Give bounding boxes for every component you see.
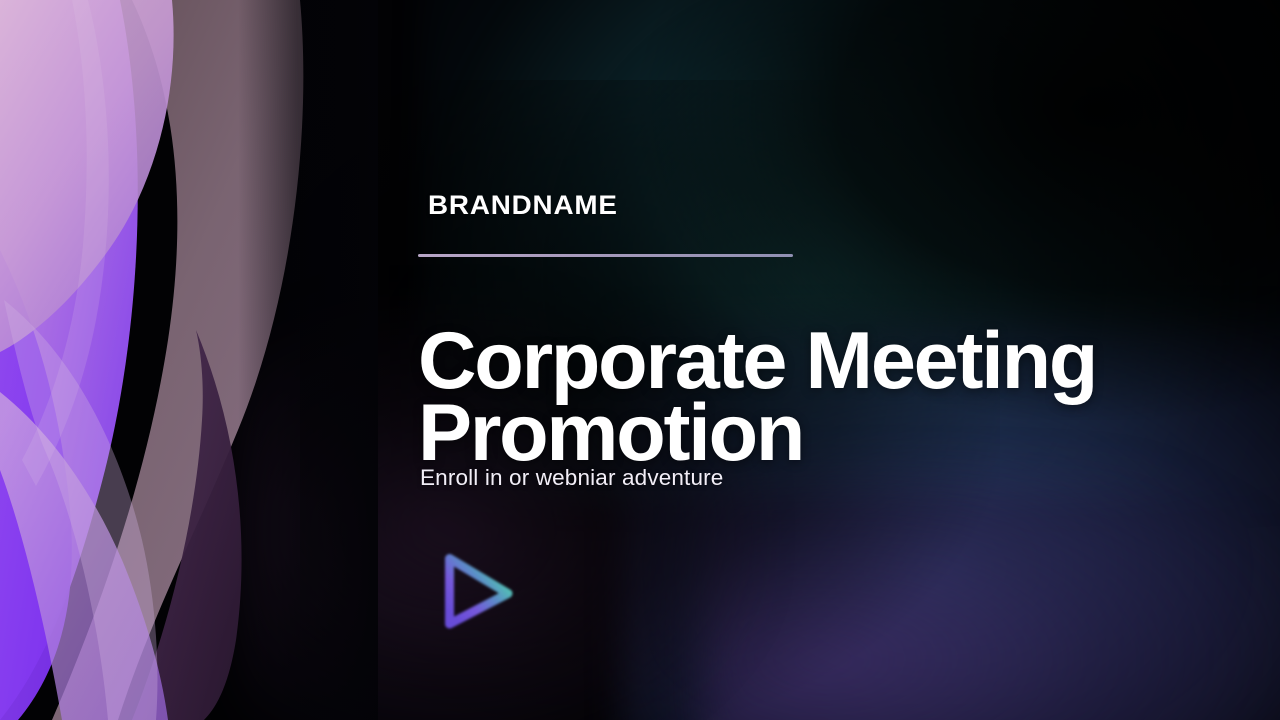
brand-name-label: BRANDNAME [428,192,618,219]
play-button[interactable] [430,544,526,640]
page-title: Corporate Meeting Promotion [418,326,1198,469]
brand-divider-rule [418,254,793,257]
subtitle-text: Enroll in or webniar adventure [420,467,723,490]
decorative-edge-fade [238,0,378,720]
slide-content: BRANDNAME Corporate Meeting Promotion En… [418,0,1208,720]
play-triangle-outline-icon [430,544,526,640]
promo-slide: BRANDNAME Corporate Meeting Promotion En… [0,0,1280,720]
